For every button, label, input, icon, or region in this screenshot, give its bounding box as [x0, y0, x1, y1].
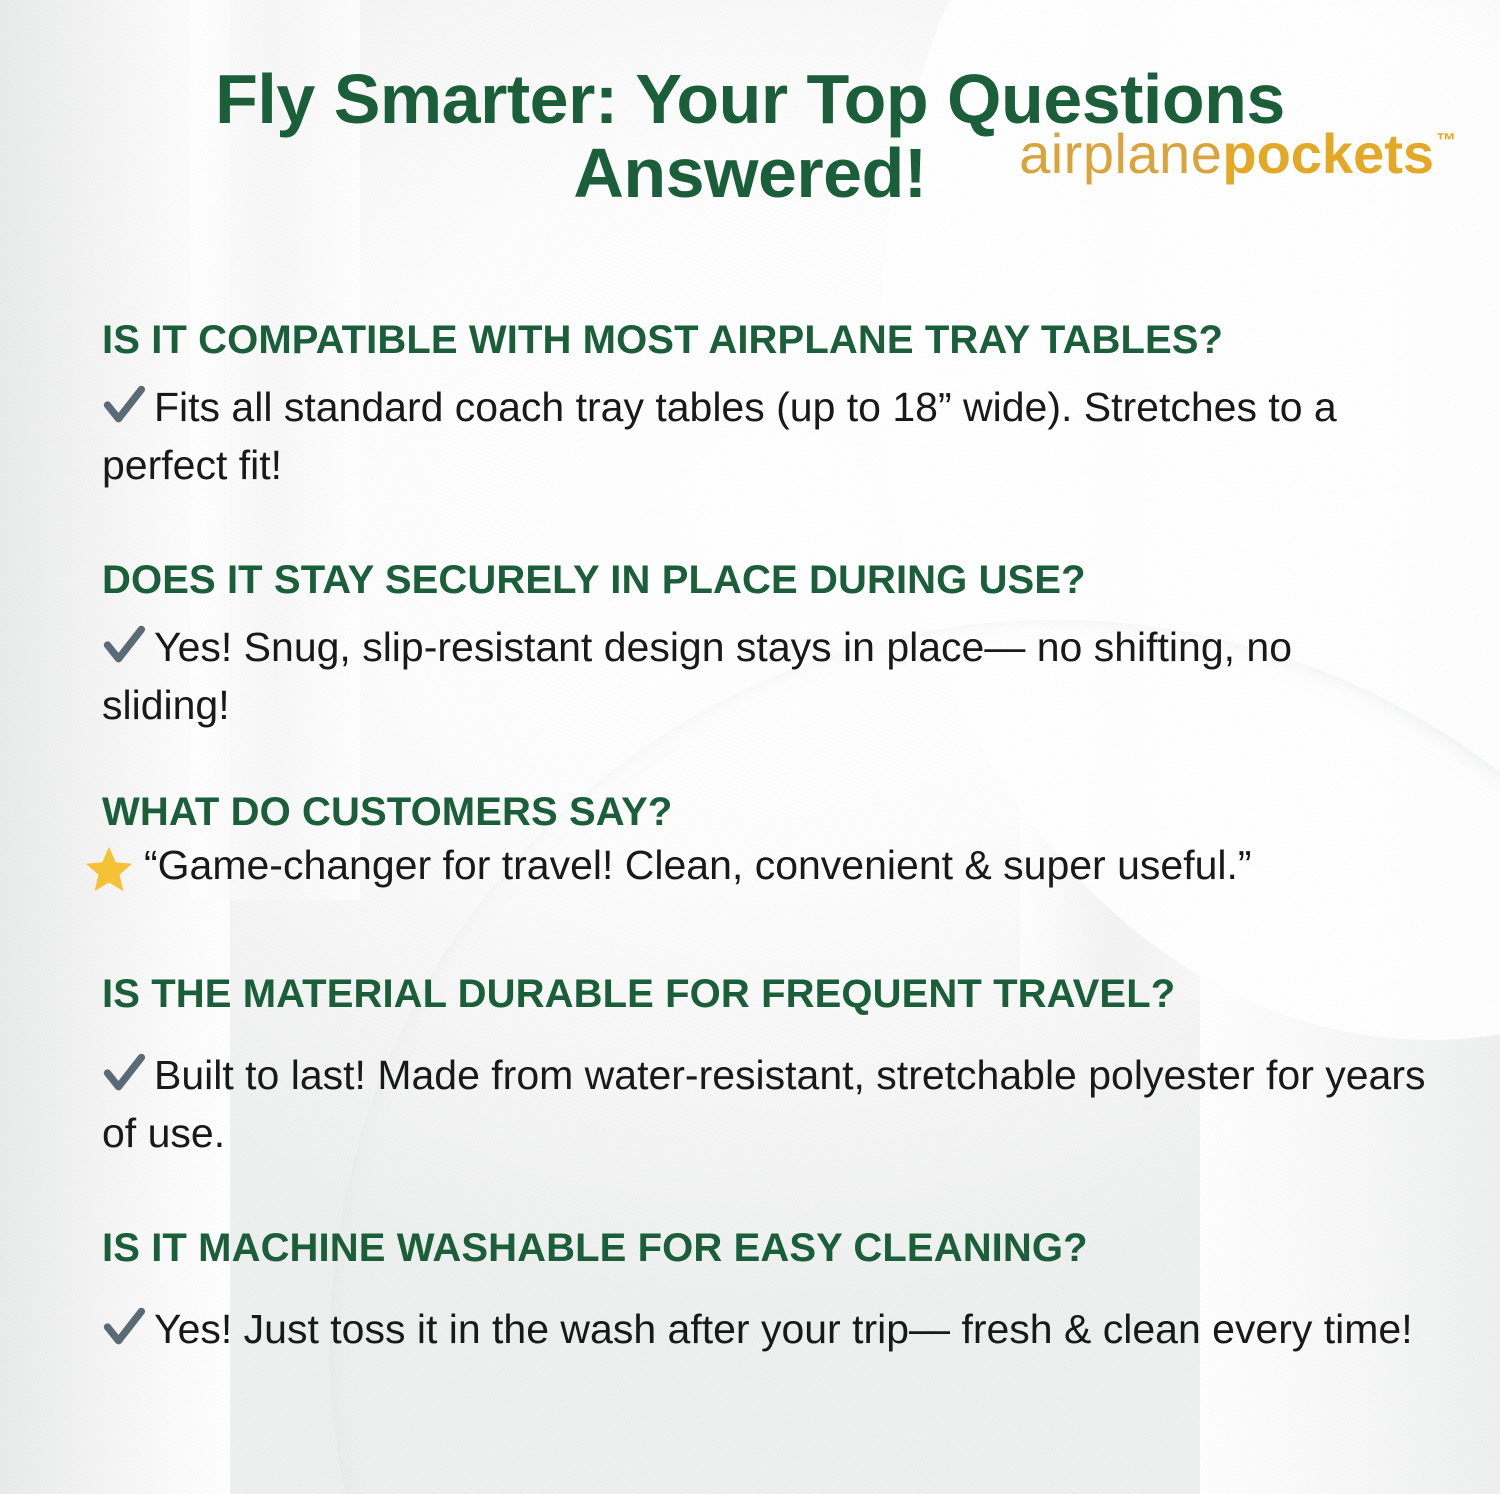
faq-question: IS IT COMPATIBLE WITH MOST AIRPLANE TRAY…: [102, 318, 1223, 363]
faq-item-reviews: WHAT DO CUSTOMERS SAY? “Game-changer for…: [102, 790, 672, 835]
faq-answer: Yes! Just toss it in the wash after your…: [102, 1304, 1422, 1362]
faq-item-secure: DOES IT STAY SECURELY IN PLACE DURING US…: [102, 558, 1086, 603]
faq-answer-text: Yes! Just toss it in the wash after your…: [154, 1306, 1413, 1352]
faq-answer: “Game-changer for travel! Clean, conveni…: [84, 840, 1464, 898]
logo-word-pockets: pockets: [1222, 122, 1434, 185]
logo-word-airplane: airplane: [1019, 122, 1222, 185]
faq-item-washable: IS IT MACHINE WASHABLE FOR EASY CLEANING…: [102, 1226, 1088, 1271]
faq-question: WHAT DO CUSTOMERS SAY?: [102, 790, 672, 835]
faq-answer-text: Fits all standard coach tray tables (up …: [102, 384, 1337, 488]
faq-answer-text: Built to last! Made from water-resistant…: [102, 1052, 1426, 1156]
content-area: Fly Smarter: Your Top Questions Answered…: [0, 0, 1500, 210]
faq-item-compatible: IS IT COMPATIBLE WITH MOST AIRPLANE TRAY…: [102, 318, 1223, 363]
faq-question: DOES IT STAY SECURELY IN PLACE DURING US…: [102, 558, 1086, 603]
trademark-symbol: ™: [1436, 130, 1456, 152]
fabric-fold-edge: [1200, 0, 1500, 1494]
faq-infographic: Fly Smarter: Your Top Questions Answered…: [0, 0, 1500, 1494]
faq-answer: Fits all standard coach tray tables (up …: [102, 382, 1422, 491]
brand-logo: airplanepockets™: [1019, 126, 1456, 182]
faq-answer: Built to last! Made from water-resistant…: [102, 1050, 1432, 1159]
star-icon: [84, 845, 136, 898]
faq-answer-text: Yes! Snug, slip-resistant design stays i…: [102, 624, 1292, 728]
faq-item-durability: IS THE MATERIAL DURABLE FOR FREQUENT TRA…: [102, 972, 1175, 1017]
check-icon: [102, 383, 146, 440]
faq-answer: Yes! Snug, slip-resistant design stays i…: [102, 622, 1422, 731]
check-icon: [102, 1305, 146, 1362]
faq-question: IS THE MATERIAL DURABLE FOR FREQUENT TRA…: [102, 972, 1175, 1017]
check-icon: [102, 623, 146, 680]
check-icon: [102, 1051, 146, 1108]
faq-answer-text: “Game-changer for travel! Clean, conveni…: [144, 842, 1252, 888]
faq-question: IS IT MACHINE WASHABLE FOR EASY CLEANING…: [102, 1226, 1088, 1271]
